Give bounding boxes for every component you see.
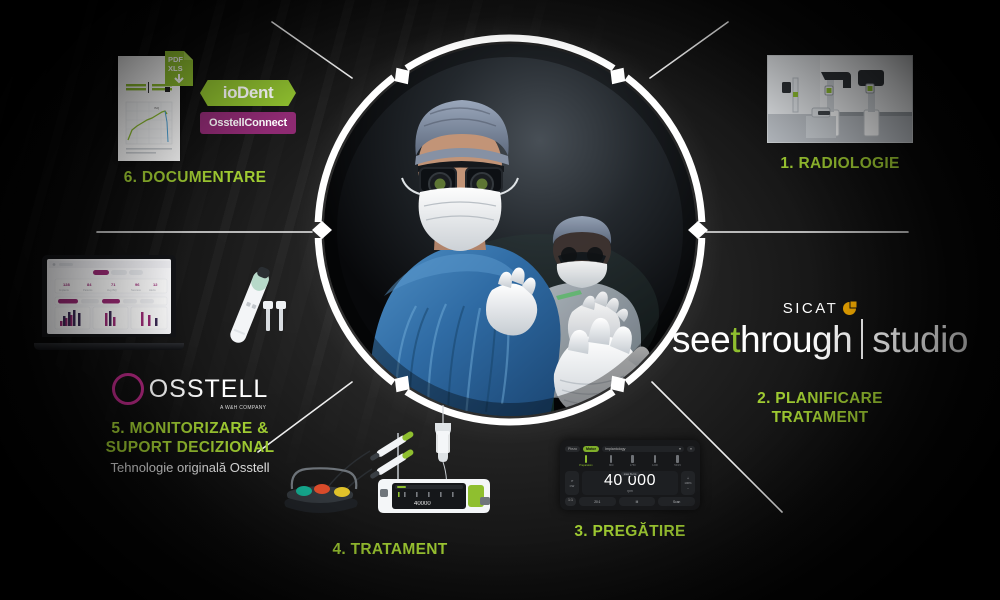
smartpegs xyxy=(260,297,294,337)
device-screen[interactable]: Piezo Motor Implantology ▾ ≡ Preparation… xyxy=(560,440,700,510)
iodent-badge: ioDent xyxy=(200,80,296,106)
power-label: 100% xyxy=(684,481,691,485)
svg-text:Avg ISQ: Avg ISQ xyxy=(107,288,117,292)
step-preparation[interactable]: Preparation xyxy=(579,455,592,469)
xls-label: XLS xyxy=(168,64,183,73)
mode-piezo[interactable]: Piezo xyxy=(565,446,580,452)
speed-readout: max N.cm 40 000 rpm xyxy=(582,471,678,495)
increase-icon[interactable]: ＋ xyxy=(687,476,690,480)
device-steps: Preparation 800 1750 1200 50/15 xyxy=(565,455,695,469)
torque-pill: max N.cm xyxy=(621,472,640,476)
center-hub xyxy=(310,30,710,430)
osstell-wordmark: OSSTELL A W&H COMPANY xyxy=(149,375,269,404)
node-pregatire: Piezo Motor Implantology ▾ ≡ Preparation… xyxy=(530,440,730,541)
studio-text: studio xyxy=(872,321,968,358)
step-drill[interactable]: 800 xyxy=(609,455,613,469)
node-planificare: SICAT seethrough studio 2. PLANIFICARE T… xyxy=(660,300,980,427)
pdf-export-badge: PDF XLS xyxy=(164,50,194,87)
svg-text:12: 12 xyxy=(153,282,158,287)
sicat-wordmark: SICAT xyxy=(783,300,839,317)
laptop-base xyxy=(34,343,184,350)
svg-text:Implants: Implants xyxy=(59,288,70,292)
node-label-documentare: 6. DOCUMENTARE xyxy=(90,168,300,187)
osstell-ring-icon xyxy=(112,373,144,405)
svg-text:71: 71 xyxy=(111,282,116,287)
svg-text:Alerts: Alerts xyxy=(149,288,156,292)
program-value: Implantology xyxy=(605,447,625,451)
node-label-pregatire: 3. PREGĂTIRE xyxy=(530,522,730,541)
logo-divider xyxy=(861,319,863,359)
svg-text:40000: 40000 xyxy=(414,501,431,507)
osstellconnect-badge: OsstellConnect xyxy=(200,112,296,134)
svg-text:128: 128 xyxy=(63,282,70,287)
menu-icon[interactable]: ≡ xyxy=(687,446,695,452)
btn-gear-ratio[interactable]: 20:1 xyxy=(579,497,616,506)
btn-scan[interactable]: Scan xyxy=(658,497,695,506)
monitorizare-visual: 12884 719612 ImplantsPatients Avg ISQSuc… xyxy=(60,255,320,363)
step-implant[interactable]: 50/15 xyxy=(674,455,681,469)
svg-text:Patients: Patients xyxy=(83,288,93,292)
speed-unit: rpm xyxy=(627,489,633,493)
device-middle: ⟳ CW max N.cm 40 000 rpm ＋ 100% － xyxy=(565,471,695,495)
node-radiologie: 1. RADIOLOGIE xyxy=(740,55,940,173)
rotation-direction-button[interactable]: ⟳ CW xyxy=(565,471,579,495)
sicat-logo: SICAT xyxy=(660,300,980,317)
device-topbar: Piezo Motor Implantology ▾ ≡ xyxy=(565,444,695,453)
ratio-indicator: 1:1 xyxy=(565,497,576,506)
svg-text:ISQ: ISQ xyxy=(154,106,160,110)
node-label-planificare: 2. PLANIFICARE TRATAMENT xyxy=(660,389,980,427)
surgery-photo xyxy=(324,44,696,416)
btn-memory[interactable]: M xyxy=(619,497,656,506)
workflow-infographic: 1. RADIOLOGIE xyxy=(0,0,1000,600)
device-bottom-bar: 1:1 20:1 M Scan xyxy=(565,497,695,506)
svg-text:Success: Success xyxy=(131,288,142,292)
see-text: see xyxy=(672,321,730,358)
hrough-text: hrough xyxy=(740,321,852,358)
osstell-name: OSSTELL xyxy=(149,375,269,403)
svg-text:84: 84 xyxy=(87,282,92,287)
seethrough-studio-logo: seethrough studio xyxy=(660,319,980,359)
node-label-radiologie: 1. RADIOLOGIE xyxy=(740,154,940,173)
pdf-label: PDF xyxy=(168,55,183,64)
radiology-photo xyxy=(767,55,913,143)
svg-text:96: 96 xyxy=(135,282,140,287)
power-controls[interactable]: ＋ 100% － xyxy=(681,471,695,495)
sicat-mark-icon xyxy=(842,301,857,316)
osstell-logo: OSSTELL A W&H COMPANY xyxy=(60,373,320,405)
node-sublabel-monitorizare: Tehnologie originală Osstell xyxy=(60,460,320,475)
laptop-screen: 12884 719612 ImplantsPatients Avg ISQSuc… xyxy=(42,255,176,337)
node-label-tratament: 4. TRATAMENT xyxy=(280,540,500,559)
program-select[interactable]: Implantology ▾ xyxy=(602,446,684,452)
node-documentare: ISQ PDF XLS ioDent OsstellConnect xyxy=(90,50,300,187)
chevron-down-icon: ▾ xyxy=(679,447,681,451)
node-label-monitorizare: 5. MONITORIZARE & SUPORT DECIZIONAL xyxy=(60,419,320,457)
decrease-icon[interactable]: － xyxy=(687,486,690,490)
node-monitorizare: 12884 719612 ImplantsPatients Avg ISQSuc… xyxy=(60,255,320,475)
mode-motor[interactable]: Motor xyxy=(583,446,599,452)
dashboard: 12884 719612 ImplantsPatients Avg ISQSuc… xyxy=(47,259,171,334)
rotation-icon: ⟳ xyxy=(571,479,573,483)
documentare-visual: ISQ PDF XLS ioDent OsstellConnect xyxy=(90,50,300,168)
osstell-tagline: A W&H COMPANY xyxy=(220,405,266,411)
step-widening[interactable]: 1750 xyxy=(630,455,636,469)
t-text: t xyxy=(730,321,740,358)
rotation-label: CW xyxy=(570,484,575,488)
laptop: 12884 719612 ImplantsPatients Avg ISQSuc… xyxy=(34,255,184,350)
step-thread[interactable]: 1200 xyxy=(652,455,658,469)
